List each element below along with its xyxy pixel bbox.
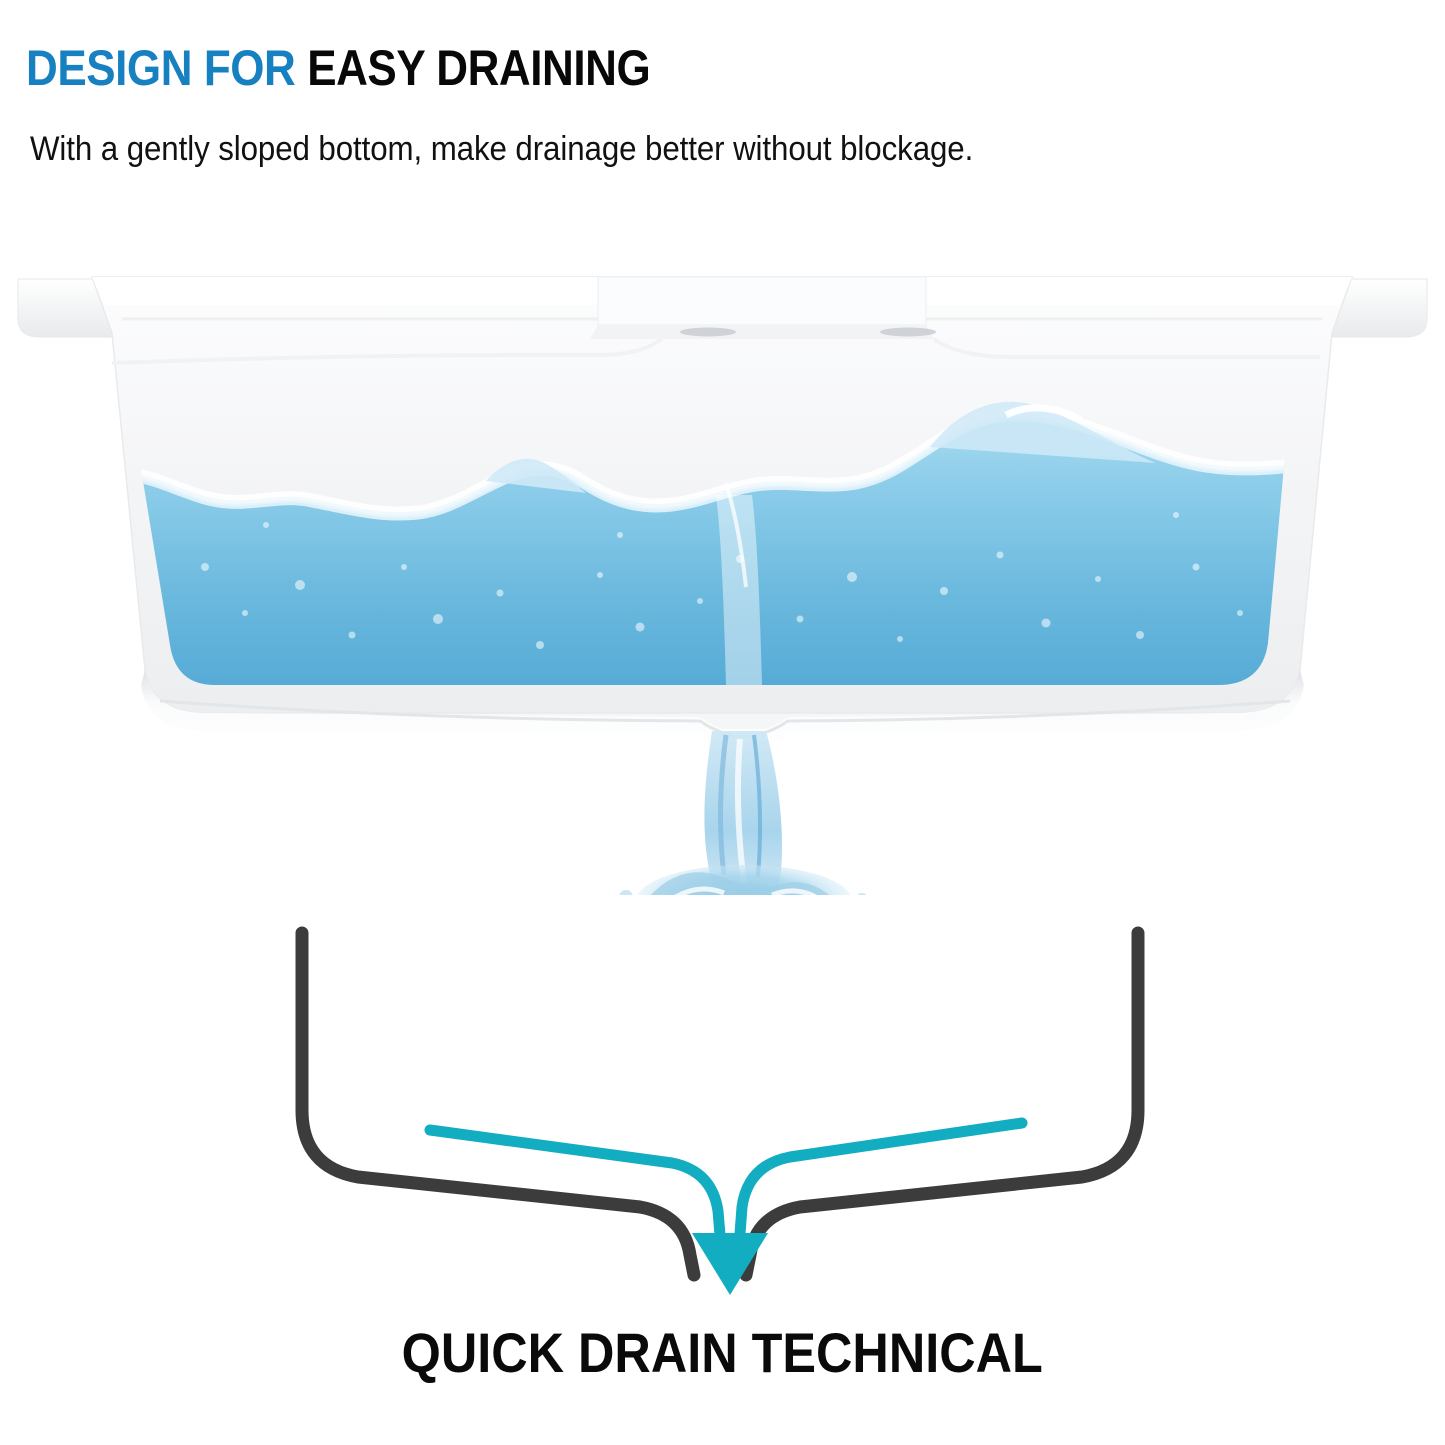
diagram-caption-text: QUICK DRAIN TECHNICAL [402,1320,1043,1385]
faucet-slot-left-icon [680,328,736,337]
diagram-caption: QUICK DRAIN TECHNICAL [0,1320,1445,1385]
flow-arrow-head-icon [692,1233,768,1295]
bowl-outline-left [302,933,694,1275]
drain-diagram-svg [0,915,1445,1305]
bowl-outline-right [746,933,1138,1275]
page-title: DESIGN FOR EASY DRAINING [26,42,650,95]
page-title-rest: EASY DRAINING [295,40,650,96]
drain-stream-group [619,731,868,895]
faucet-slot-right-icon [880,328,936,337]
page-title-highlight: DESIGN FOR [26,40,295,96]
hero-sink-image [0,215,1445,895]
page-subtitle: With a gently sloped bottom, make draina… [30,130,973,169]
drain-diagram [0,915,1445,1305]
sink-illustration [0,215,1445,895]
sink-faucet-ledge [598,277,926,325]
